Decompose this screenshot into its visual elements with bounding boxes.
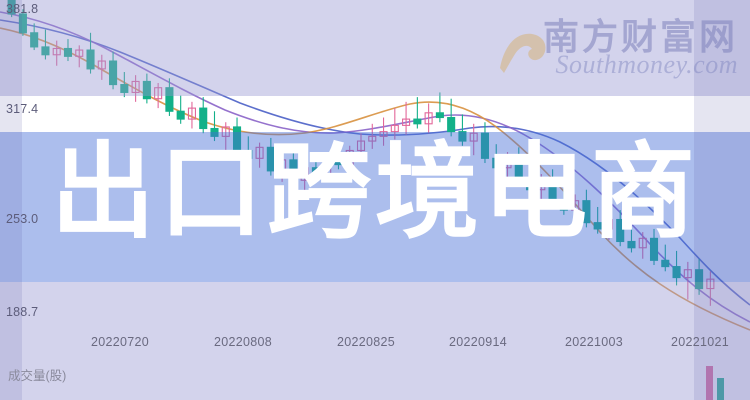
candlestick xyxy=(245,136,252,163)
x-axis-label-5: 20221021 xyxy=(671,335,729,349)
candlestick xyxy=(346,146,353,171)
candlestick xyxy=(560,188,567,215)
volume-bar xyxy=(706,366,713,400)
candlestick xyxy=(76,45,83,67)
candlestick xyxy=(639,232,646,259)
stock-chart-screenshot: 381.8 317.4 253.0 188.7 20220720 2022080… xyxy=(0,0,750,400)
x-axis-label-4: 20221003 xyxy=(565,335,623,349)
candlestick xyxy=(132,75,139,102)
candlestick xyxy=(301,163,308,191)
candlestick xyxy=(200,97,207,133)
candlestick xyxy=(110,52,117,90)
candlestick xyxy=(358,133,365,158)
candlestick xyxy=(673,251,680,286)
candlestick xyxy=(267,138,274,176)
ma-mid-line xyxy=(0,12,750,322)
candlestick xyxy=(143,74,150,104)
candlestick xyxy=(98,55,105,80)
y-axis-label-2: 253.0 xyxy=(6,212,38,226)
y-axis-label-3: 188.7 xyxy=(6,305,38,319)
y-axis-label-0: 381.8 xyxy=(6,2,38,16)
x-axis-label-0: 20220720 xyxy=(91,335,149,349)
candlestick xyxy=(222,122,229,150)
candlestick xyxy=(481,122,488,163)
candlestick xyxy=(155,83,162,108)
candlestick xyxy=(256,143,263,168)
candlestick-series xyxy=(8,0,714,306)
y-axis-label-1: 317.4 xyxy=(6,102,38,116)
candlestick xyxy=(628,226,635,253)
candlestick xyxy=(549,169,556,208)
x-axis-label-1: 20220808 xyxy=(214,335,272,349)
candlestick xyxy=(515,147,522,186)
candlestick xyxy=(583,190,590,228)
candlestick xyxy=(312,155,319,180)
candlestick xyxy=(279,155,286,182)
candlestick xyxy=(538,174,545,202)
volume-series xyxy=(706,366,724,400)
candlestick xyxy=(177,96,184,124)
candlestick xyxy=(324,152,331,182)
candlestick xyxy=(290,150,297,186)
candlestick xyxy=(696,259,703,295)
candlestick xyxy=(403,102,410,135)
candlestick xyxy=(504,152,511,180)
candlestick xyxy=(64,39,71,61)
candlestick xyxy=(436,92,443,122)
candlestick xyxy=(493,144,500,174)
candlestick xyxy=(684,262,691,300)
candlestick xyxy=(121,72,128,97)
x-axis-label-2: 20220825 xyxy=(337,335,395,349)
candlestick xyxy=(605,215,612,240)
candlestick xyxy=(42,30,49,60)
candlestick xyxy=(234,118,241,156)
volume-panel-caption: 成交量(股) xyxy=(8,365,66,384)
ma-lines xyxy=(0,12,750,330)
volume-bar xyxy=(717,378,724,400)
candlestick xyxy=(527,166,534,194)
candlestick xyxy=(380,118,387,146)
x-axis-label-3: 20220914 xyxy=(449,335,507,349)
candlestick xyxy=(651,229,658,265)
candlestick xyxy=(335,144,342,169)
candlestick xyxy=(594,207,601,234)
